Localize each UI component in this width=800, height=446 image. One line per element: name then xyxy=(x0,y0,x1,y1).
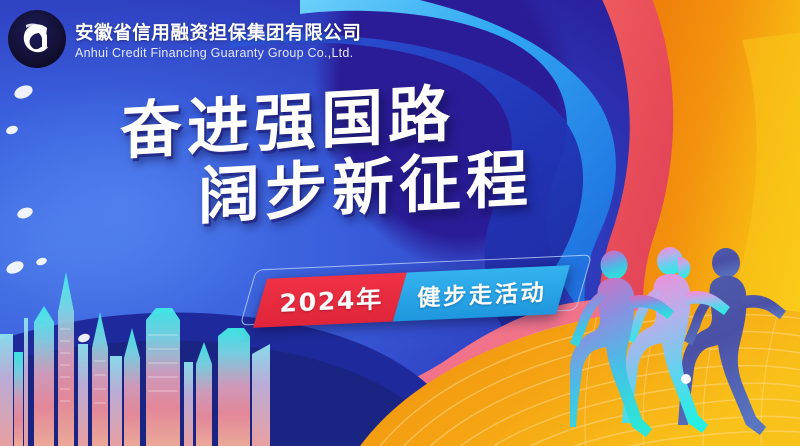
city-skyline xyxy=(0,256,270,446)
brand-lockup: 安徽省信用融资担保集团有限公司 Anhui Credit Financing G… xyxy=(8,10,362,68)
company-name-cn: 安徽省信用融资担保集团有限公司 xyxy=(75,19,362,45)
main-headline: 奋进强国路 阔步新征程 xyxy=(120,77,533,235)
company-name-en: Anhui Credit Financing Guaranty Group Co… xyxy=(75,46,362,60)
badge-activity: 健步走活动 xyxy=(393,265,570,321)
badge-year-label: 2024年 xyxy=(279,280,383,320)
promotional-banner: 安徽省信用融资担保集团有限公司 Anhui Credit Financing G… xyxy=(0,0,800,446)
running-figures xyxy=(570,231,800,446)
badge-year: 2024年 xyxy=(253,273,407,328)
anhui-g-logo-icon xyxy=(8,10,66,68)
badge-activity-label: 健步走活动 xyxy=(417,273,546,312)
